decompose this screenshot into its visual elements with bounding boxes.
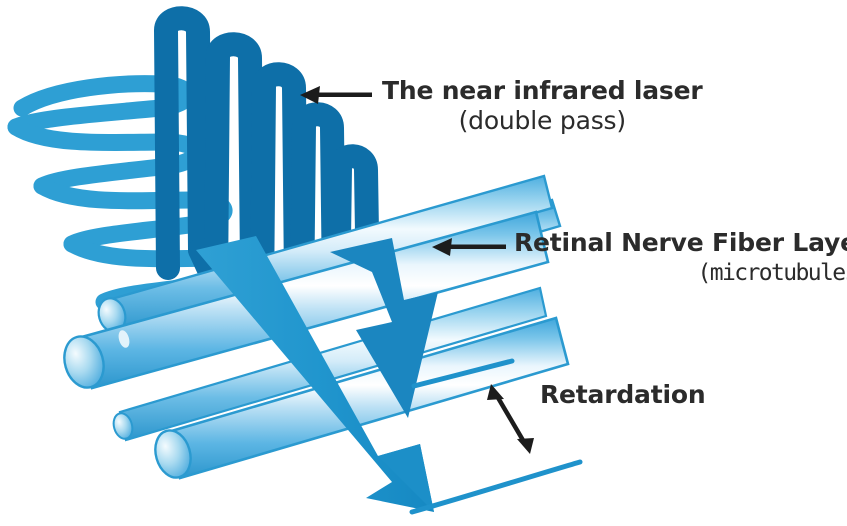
label-retardation-line1: Retardation xyxy=(540,380,705,410)
label-laser-line1: The near infrared laser xyxy=(382,76,703,106)
label-laser-line2: (double pass) xyxy=(382,106,703,136)
label-near-infrared-laser: The near infrared laser (double pass) xyxy=(382,76,703,136)
phase-line-lower xyxy=(412,462,580,512)
laser-annotation-arrow xyxy=(300,86,372,104)
label-retardation: Retardation xyxy=(540,380,705,410)
label-retinal-nerve-fiber-layer: Retinal Nerve Fiber Layer (microtubules) xyxy=(514,228,847,288)
figure-canvas: The near infrared laser (double pass) Re… xyxy=(0,0,847,526)
retardation-arrowhead-bottom xyxy=(517,438,534,454)
label-rnfl-line2: (microtubules) xyxy=(514,258,847,288)
retardation-annotation-arrow xyxy=(497,396,524,442)
label-rnfl-line1: Retinal Nerve Fiber Layer xyxy=(514,228,847,258)
